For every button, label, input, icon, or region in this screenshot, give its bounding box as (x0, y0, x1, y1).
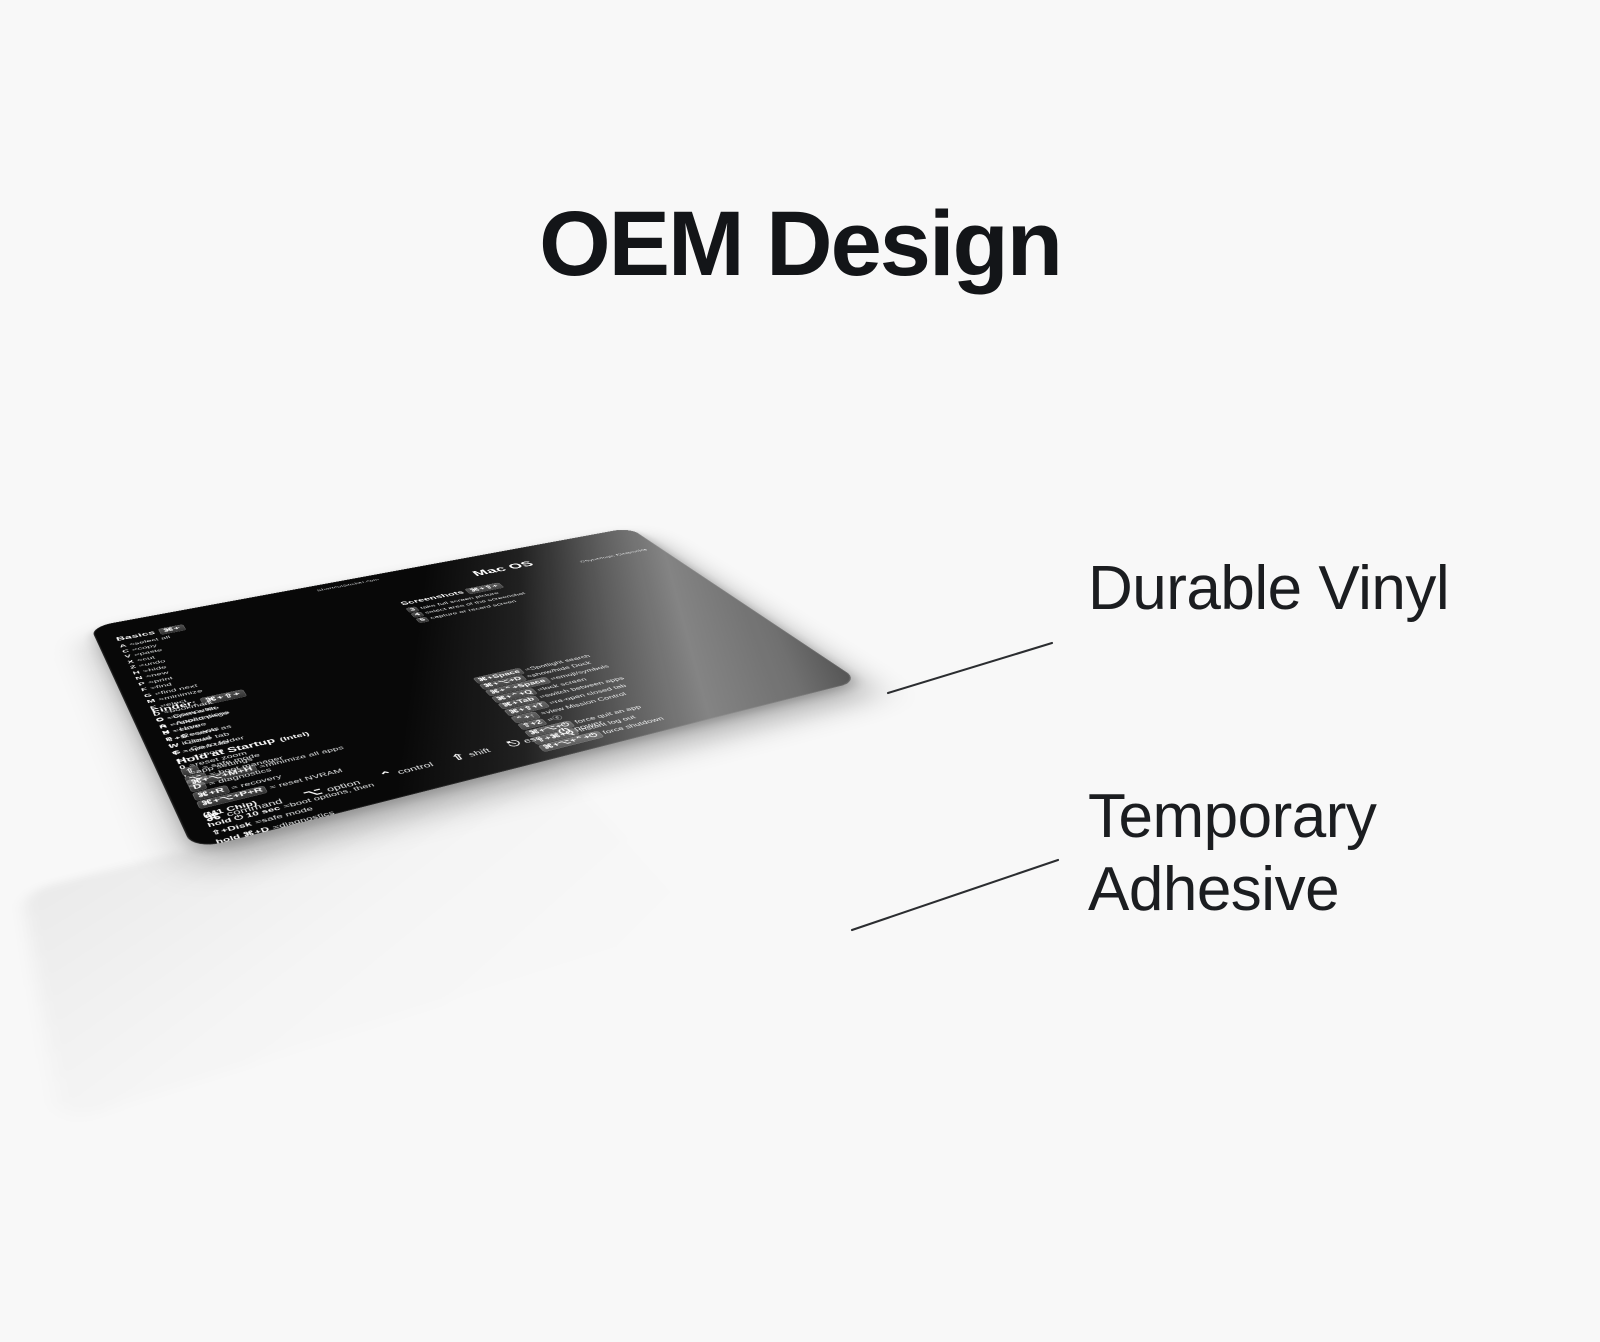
sticker-assembly: ShortcutSticker.com ©Synerlogic Electron… (0, 420, 960, 1060)
shortcut-entry: 4select area of the screenshot (410, 563, 669, 618)
shortcut-key: I (168, 743, 174, 750)
esc-icon: ⎋ (504, 737, 524, 749)
brand-url: ShortcutSticker.com (316, 578, 381, 593)
page-title: OEM Design (0, 198, 1600, 290)
shortcut-key: F (164, 736, 173, 743)
os-title: Mac OS (469, 559, 537, 578)
shortcut-key-chip: 5 (415, 616, 430, 623)
oem-design-scene: OEM Design Durable Vinyl Temporary Adhes… (0, 0, 1600, 1342)
shortcut-key: G (171, 749, 182, 757)
sticker-reflection (22, 759, 697, 1125)
section-screenshots: Screenshots ⌘+⇧+ 3take full screen pictu… (399, 553, 676, 623)
callout-label-durable-vinyl: Durable Vinyl (1088, 552, 1449, 625)
callout-label-temporary-adhesive: Temporary Adhesive (1088, 780, 1376, 926)
screenshots-entry-list: 3take full screen picture 4select area o… (405, 559, 675, 623)
section-extra-shortcuts: ⌘+Space=Spotlight search ⌘+⌥+D=show/hide… (473, 618, 835, 753)
